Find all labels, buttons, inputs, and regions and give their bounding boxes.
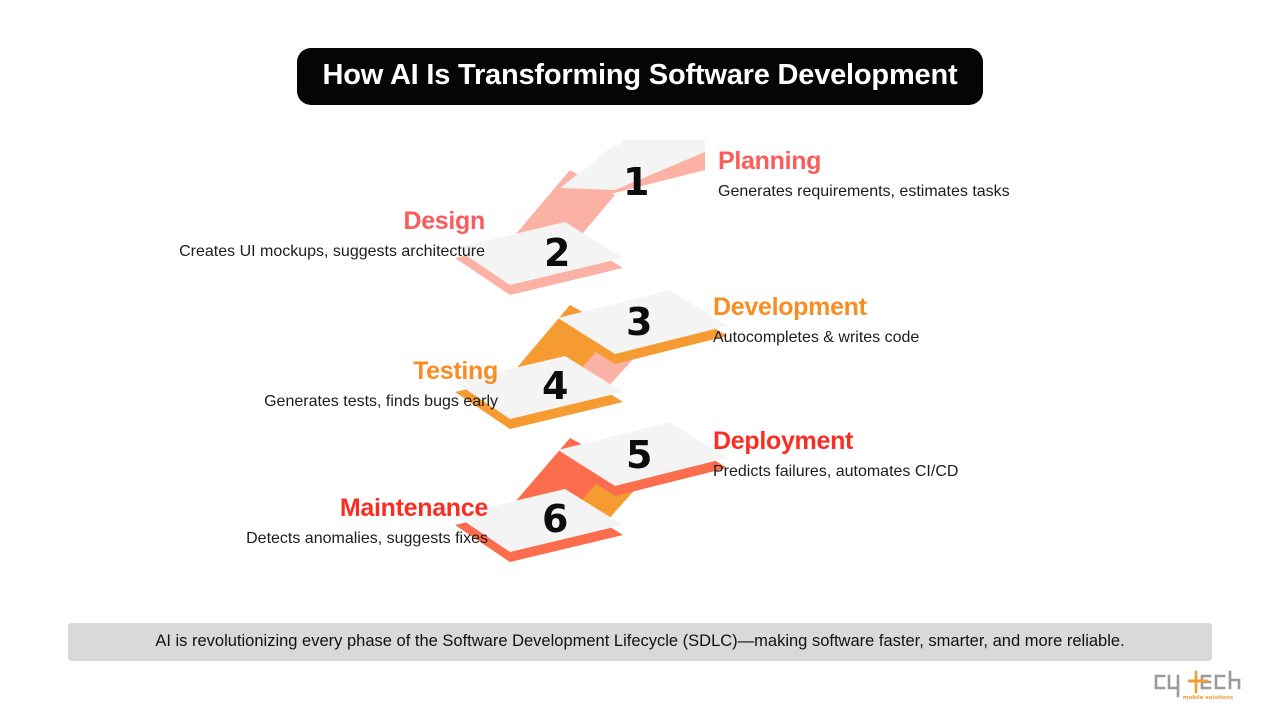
- step-title-deployment: Deployment: [713, 428, 958, 456]
- logo-tagline: mobile solutions: [1183, 695, 1233, 701]
- sdlc-ribbon-diagram: 1 2 3 4 5 6: [0, 0, 1280, 720]
- step-number-6: 6: [542, 500, 567, 538]
- connector-5-6: [515, 438, 615, 525]
- step-block-maintenance: Maintenance Detects anomalies, suggests …: [246, 495, 488, 549]
- step-1-edge: [567, 150, 705, 205]
- page-title: How AI Is Transforming Software Developm…: [297, 48, 984, 105]
- title-bar: How AI Is Transforming Software Developm…: [0, 48, 1280, 105]
- step-block-design: Design Creates UI mockups, suggests arch…: [179, 208, 485, 262]
- step-1-plate: [560, 145, 705, 190]
- step-number-1: 1: [623, 163, 648, 201]
- connector-1-2: [515, 170, 615, 260]
- step-3-edge: [558, 300, 727, 364]
- step-title-development: Development: [713, 294, 919, 322]
- step-desc-planning: Generates requirements, estimates tasks: [718, 182, 1010, 202]
- step-5-plate: [558, 422, 727, 486]
- step-block-development: Development Autocompletes & writes code: [713, 294, 919, 348]
- step-number-5: 5: [626, 436, 651, 474]
- step-desc-deployment: Predicts failures, automates CI/CD: [713, 462, 958, 482]
- summary-caption: AI is revolutionizing every phase of the…: [68, 623, 1212, 661]
- step-desc-testing: Generates tests, finds bugs early: [264, 392, 498, 412]
- step-block-planning: Planning Generates requirements, estimat…: [718, 148, 1010, 202]
- cytech-logo: mobile solutions: [1150, 666, 1258, 706]
- step-desc-development: Autocompletes & writes code: [713, 328, 919, 348]
- step-1-face: [567, 148, 705, 185]
- step-title-planning: Planning: [718, 148, 1010, 176]
- step-number-2: 2: [544, 234, 569, 272]
- connector-3-4: [515, 305, 615, 393]
- connector-2-3: [560, 305, 660, 390]
- step-1-top: [567, 140, 705, 185]
- step-desc-design: Creates UI mockups, suggests architectur…: [179, 242, 485, 262]
- step-block-deployment: Deployment Predicts failures, automates …: [713, 428, 958, 482]
- connector-4-5: [560, 438, 660, 523]
- step-number-4: 4: [542, 367, 567, 405]
- step-title-design: Design: [179, 208, 485, 236]
- ribbon-shapes: [455, 140, 745, 590]
- step-number-3: 3: [626, 303, 651, 341]
- step-title-maintenance: Maintenance: [246, 495, 488, 523]
- step-desc-maintenance: Detects anomalies, suggests fixes: [246, 529, 488, 549]
- step-5-edge: [558, 432, 727, 496]
- step-title-testing: Testing: [264, 358, 498, 386]
- step-block-testing: Testing Generates tests, finds bugs earl…: [264, 358, 498, 412]
- step-3-plate: [558, 290, 727, 354]
